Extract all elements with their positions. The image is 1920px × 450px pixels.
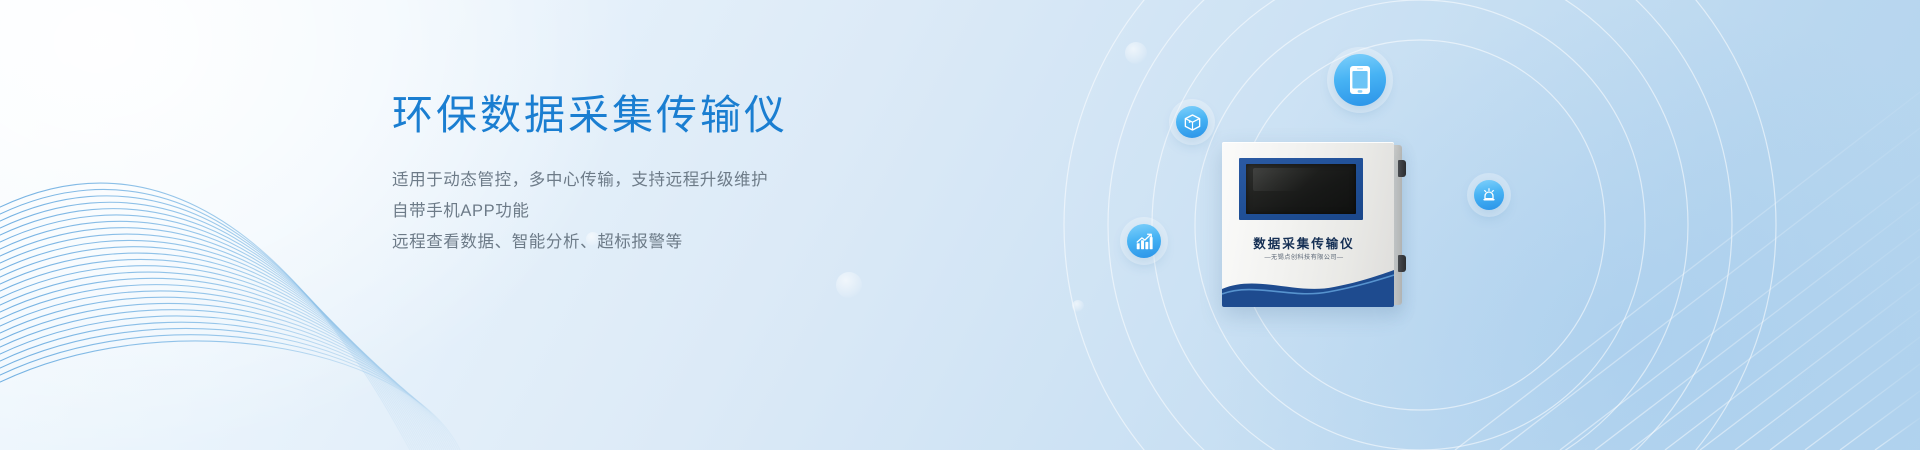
badge-chart[interactable]	[1127, 224, 1161, 258]
banner-subtitle-list: 适用于动态管控，多中心传输，支持远程升级维护 自带手机APP功能 远程查看数据、…	[392, 165, 1012, 258]
device-connector-tab	[1398, 255, 1406, 272]
banner-copy: 环保数据采集传输仪 适用于动态管控，多中心传输，支持远程升级维护 自带手机APP…	[392, 92, 1012, 258]
badge-cube[interactable]	[1176, 106, 1208, 138]
badge-phone[interactable]	[1334, 54, 1386, 106]
device-screen	[1246, 164, 1356, 214]
device-wave-graphic	[1222, 265, 1394, 307]
device-connector-tab	[1398, 160, 1406, 177]
chart-icon	[1135, 232, 1154, 251]
bokeh-dot	[1072, 300, 1084, 312]
device-brand-text: 数据采集传输仪	[1222, 233, 1386, 252]
device-company-text: —无锡点创科技有限公司—	[1222, 252, 1386, 261]
device-screen-bezel	[1239, 158, 1363, 220]
banner-title: 环保数据采集传输仪	[392, 92, 1012, 139]
cube-icon	[1184, 114, 1201, 131]
banner-subtitle-line-1: 适用于动态管控，多中心传输，支持远程升级维护	[392, 165, 1012, 196]
alarm-icon	[1481, 187, 1497, 203]
banner-subtitle-line-2: 自带手机APP功能	[392, 196, 1012, 227]
device-body: 数据采集传输仪 —无锡点创科技有限公司—	[1222, 142, 1394, 307]
bokeh-dot	[836, 272, 862, 298]
banner-subtitle-line-3: 远程查看数据、智能分析、超标报警等	[392, 227, 1012, 258]
badge-alarm[interactable]	[1474, 180, 1504, 210]
bokeh-dot	[1125, 42, 1147, 64]
product-banner: 环保数据采集传输仪 适用于动态管控，多中心传输，支持远程升级维护 自带手机APP…	[0, 0, 1920, 450]
phone-icon	[1349, 65, 1371, 95]
product-device-image: 数据采集传输仪 —无锡点创科技有限公司—	[1222, 142, 1402, 307]
